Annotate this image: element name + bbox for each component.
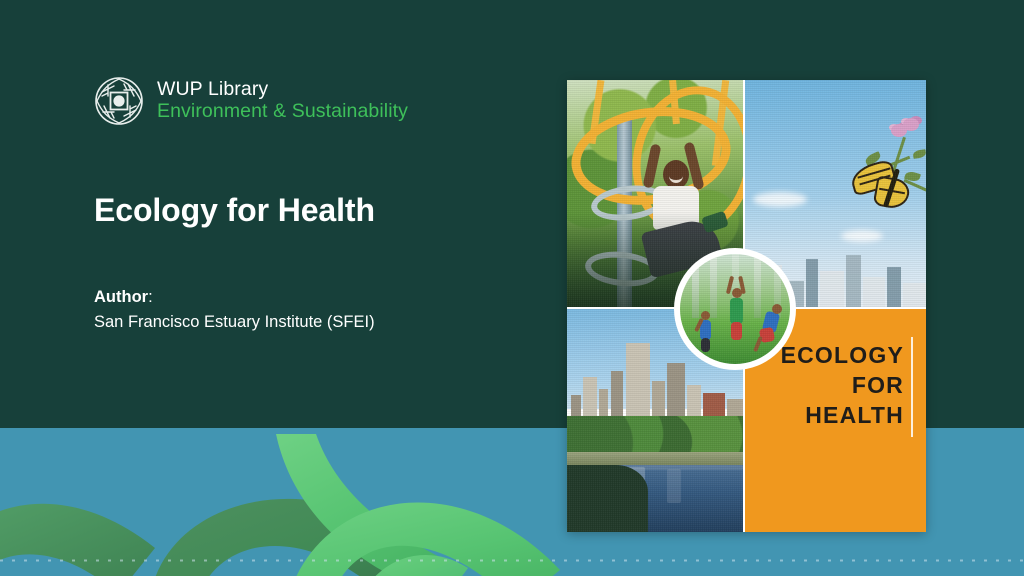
- title-rule: [911, 337, 913, 437]
- brand-lockup[interactable]: WUP Library Environment & Sustainability: [94, 76, 408, 126]
- author-name: San Francisco Estuary Institute (SFEI): [94, 310, 375, 335]
- author-separator: :: [148, 288, 153, 306]
- brand-title: WUP Library: [157, 79, 408, 101]
- dotted-rule: [0, 559, 1024, 562]
- ribbon-arcs-graphic: [0, 428, 620, 576]
- cover-title-line-3: HEALTH: [762, 401, 904, 431]
- cover-circle-inset-children-photo: [674, 248, 796, 370]
- author-label: Author: [94, 288, 148, 306]
- brand-subtitle: Environment & Sustainability: [157, 101, 408, 123]
- brand-text: WUP Library Environment & Sustainability: [157, 79, 408, 123]
- cover-photo-grid: ECOLOGY FOR HEALTH: [567, 80, 926, 532]
- cover-title-line-2: FOR: [762, 371, 904, 401]
- author-block: Author: San Francisco Estuary Institute …: [94, 285, 375, 335]
- cover-title-text: ECOLOGY FOR HEALTH: [762, 341, 904, 431]
- circular-leaf-emblem-icon: [94, 76, 144, 126]
- book-cover-image[interactable]: ECOLOGY FOR HEALTH: [567, 80, 926, 532]
- page-title: Ecology for Health: [94, 192, 375, 229]
- presentation-slide: WUP Library Environment & Sustainability…: [0, 0, 1024, 576]
- author-label-row: Author:: [94, 285, 375, 310]
- butterfly-graphic: [849, 142, 926, 224]
